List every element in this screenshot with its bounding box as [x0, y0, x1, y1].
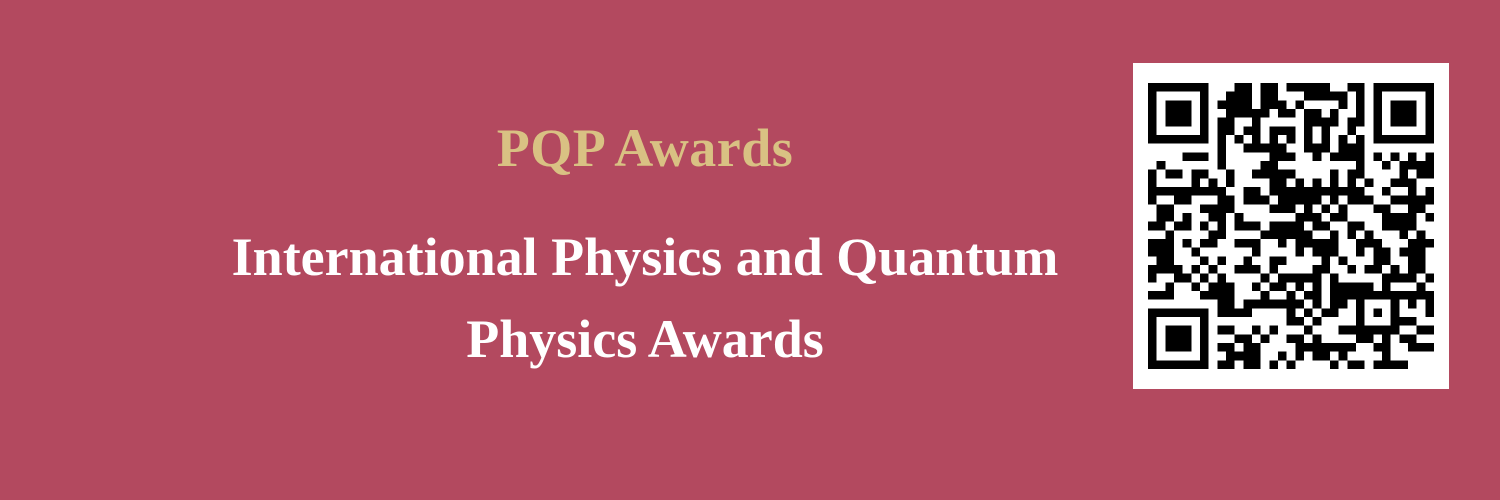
brand-title: PQP Awards [497, 120, 794, 177]
qr-code-icon[interactable] [1148, 83, 1434, 369]
award-full-name: International Physics and Quantum Physic… [155, 216, 1135, 380]
awards-banner: PQP Awards International Physics and Qua… [0, 0, 1500, 500]
qr-code-card[interactable] [1133, 63, 1449, 389]
banner-text-block: PQP Awards International Physics and Qua… [0, 0, 1290, 500]
